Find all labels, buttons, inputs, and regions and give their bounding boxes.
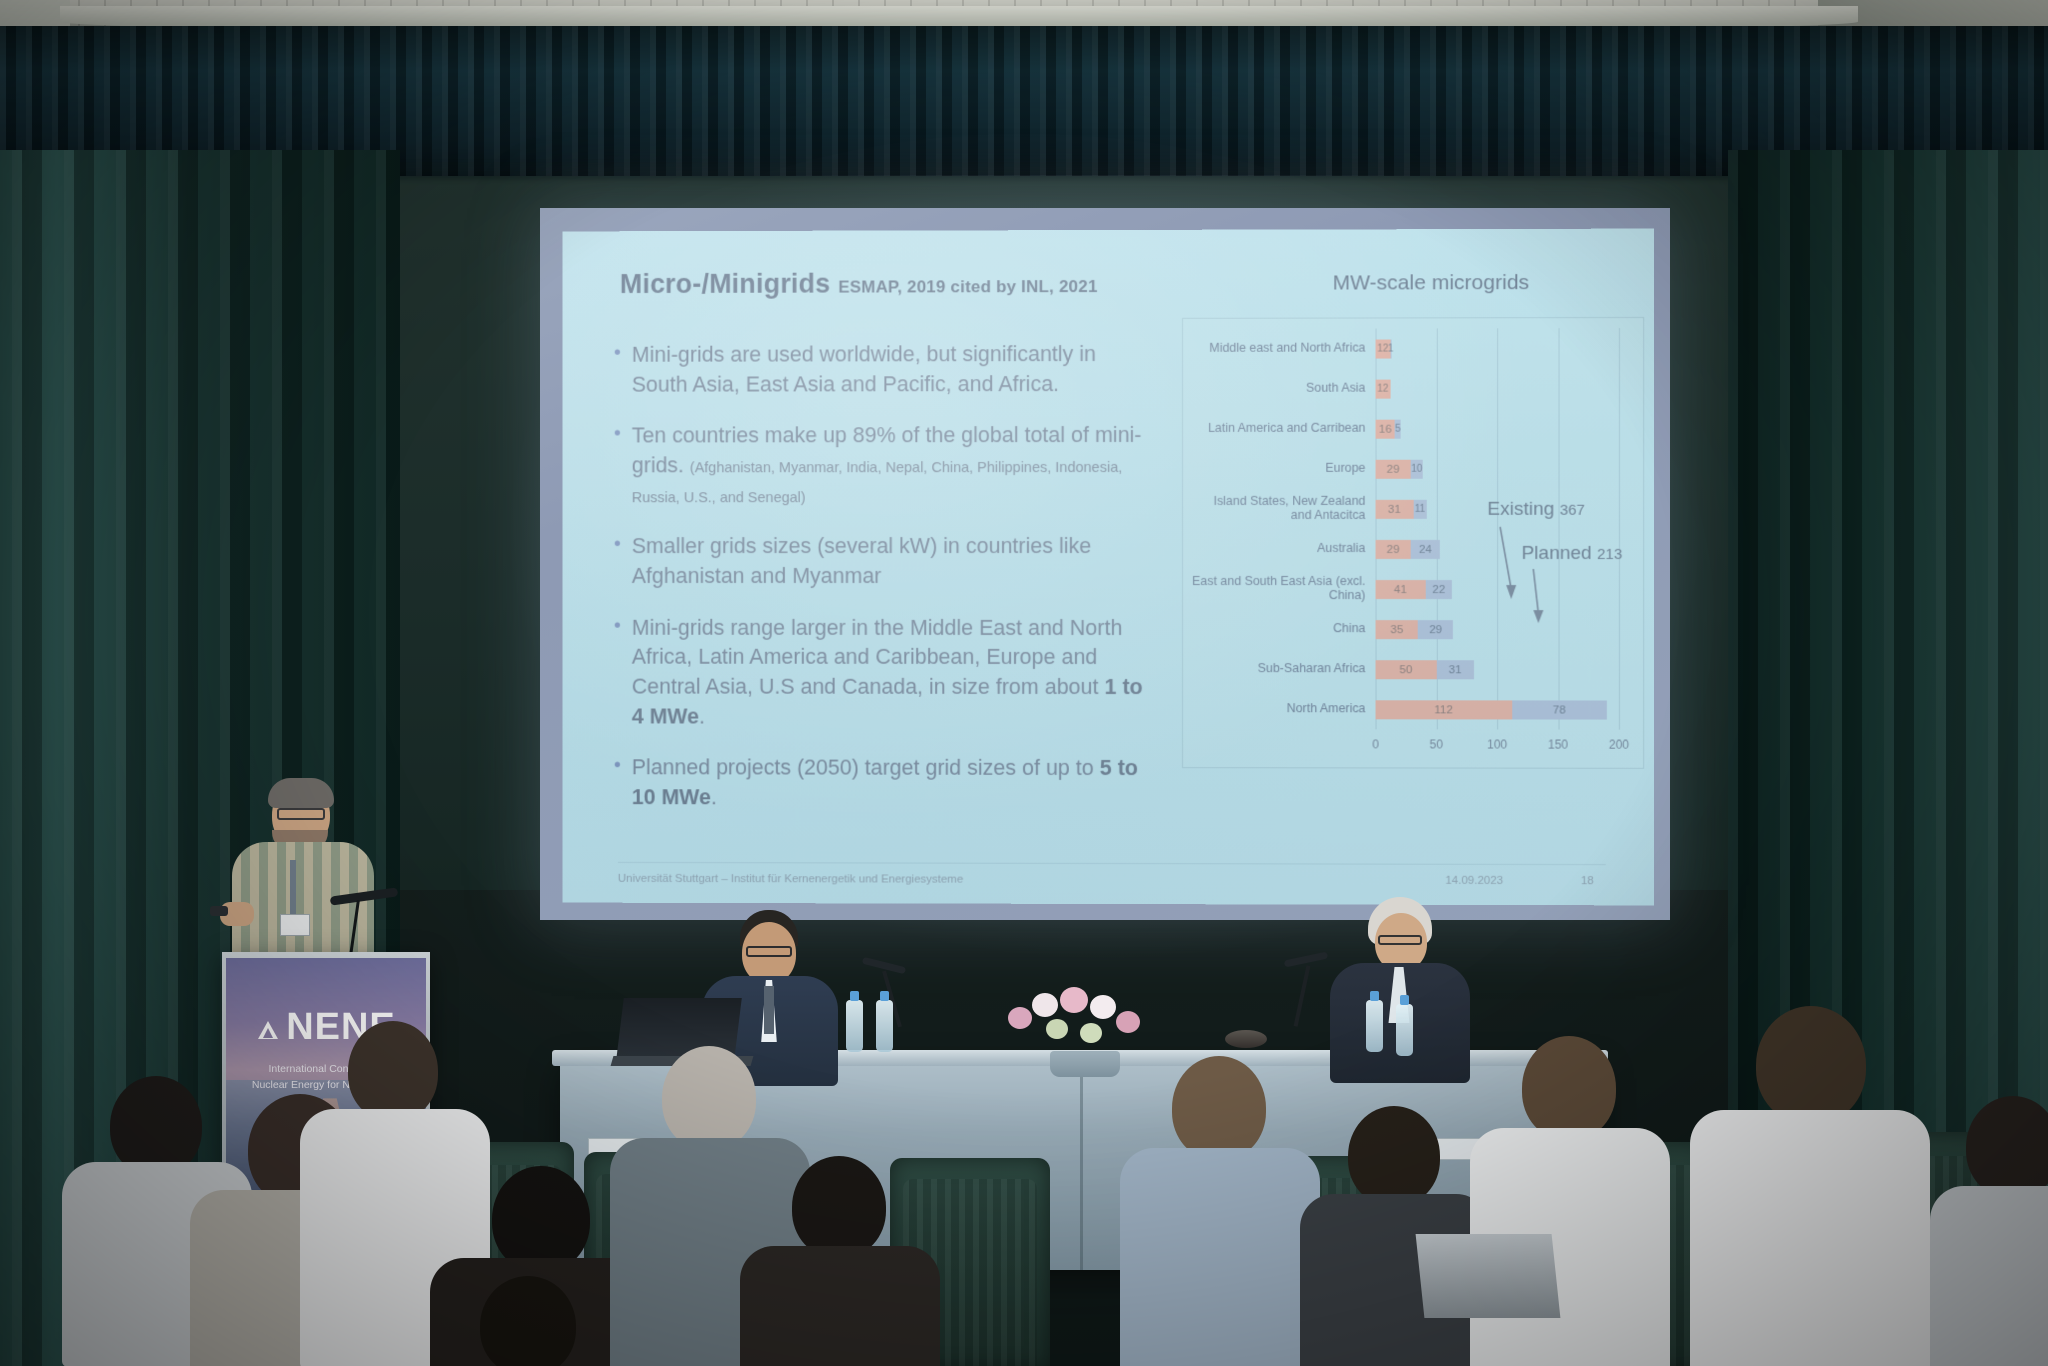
chart-category-label: Latin America and Carribean bbox=[1179, 422, 1365, 436]
chart-bar-row: Middle east and North Africa121 bbox=[1376, 339, 1619, 358]
footer-divider bbox=[618, 862, 1606, 865]
audience-torso bbox=[1930, 1186, 2048, 1366]
bullet-dot-icon: • bbox=[614, 613, 621, 731]
audience-head bbox=[480, 1276, 576, 1366]
chart-bar-segment-existing: 112 bbox=[1376, 700, 1512, 719]
chart-bar-segment-planned: 24 bbox=[1411, 539, 1440, 558]
bullet-item: • Mini-grids are used worldwide, but sig… bbox=[614, 340, 1152, 400]
chart-bar-segment-existing: 29 bbox=[1376, 539, 1411, 558]
chart-category-label: North America bbox=[1179, 702, 1365, 716]
chart-bar-segment-existing: 50 bbox=[1376, 660, 1437, 679]
audience-head bbox=[110, 1076, 202, 1176]
annotation-existing-value: 367 bbox=[1560, 502, 1585, 519]
annotation-planned-value: 213 bbox=[1597, 546, 1622, 563]
audience-torso bbox=[740, 1246, 940, 1366]
audience-member bbox=[740, 1156, 940, 1366]
slide-footer-institution: Universität Stuttgart – Institut für Ker… bbox=[618, 873, 963, 886]
chart-bar-segment-existing: 41 bbox=[1376, 580, 1426, 599]
chart-bar-row: North America11278 bbox=[1376, 700, 1619, 719]
chart-category-label: Europe bbox=[1179, 462, 1365, 476]
chart-bar-segment-existing: 29 bbox=[1376, 459, 1411, 478]
audience-torso bbox=[1120, 1148, 1320, 1366]
chart-bar-row: Sub-Saharan Africa5031 bbox=[1376, 660, 1619, 679]
audience-member bbox=[1690, 1006, 1930, 1366]
chart-bar-row: South Asia12 bbox=[1376, 379, 1619, 398]
panelist-right-glasses bbox=[1378, 935, 1422, 945]
chart-x-tick: 100 bbox=[1487, 737, 1507, 751]
speaker-badge bbox=[280, 914, 310, 936]
audience-laptop bbox=[1416, 1234, 1561, 1318]
chart-x-tick: 50 bbox=[1430, 737, 1443, 751]
chart-category-label: China bbox=[1179, 622, 1365, 636]
slide-footer-date: 14.09.2023 bbox=[1445, 875, 1503, 887]
slide-title: Micro-/MinigridsESMAP, 2019 cited by INL… bbox=[620, 268, 1098, 300]
speaker-lanyard bbox=[290, 860, 296, 918]
chart-bar-row: Latin America and Carribean165 bbox=[1376, 419, 1619, 438]
chart-x-axis: 050100150200 bbox=[1376, 737, 1619, 757]
chart-category-label: South Asia bbox=[1179, 382, 1365, 396]
bullet-text-main: Planned projects (2050) target grid size… bbox=[632, 756, 1100, 781]
chart-bar-segment-existing: 16 bbox=[1376, 419, 1395, 438]
arrow-existing-icon bbox=[1483, 525, 1523, 605]
audience-head bbox=[1348, 1106, 1440, 1206]
bullet-text: Mini-grids range larger in the Middle Ea… bbox=[632, 613, 1152, 732]
chart-bar-segment-planned: 11 bbox=[1413, 499, 1426, 518]
speaker-hair bbox=[268, 778, 334, 808]
chart-category-label: Middle east and North Africa bbox=[1179, 342, 1365, 356]
slide-title-main: Micro-/Minigrids bbox=[620, 269, 830, 299]
audience-head bbox=[1522, 1036, 1616, 1140]
annotation-planned: Planned 213 bbox=[1521, 543, 1622, 565]
presentation-slide: Micro-/MinigridsESMAP, 2019 cited by INL… bbox=[562, 229, 1654, 906]
speaker-glasses bbox=[277, 808, 325, 820]
audience-head bbox=[492, 1166, 590, 1272]
slide-title-source: ESMAP, 2019 cited by INL, 2021 bbox=[838, 277, 1097, 297]
conference-room-scene: Micro-/MinigridsESMAP, 2019 cited by INL… bbox=[0, 0, 2048, 1366]
chart-bar-segment-planned: 1 bbox=[1390, 339, 1391, 358]
chart-bar-row: China3529 bbox=[1376, 620, 1619, 639]
chart-bar-segment-existing: 12 bbox=[1376, 379, 1391, 398]
bullet-text: Planned projects (2050) target grid size… bbox=[632, 754, 1152, 814]
bullet-text: Ten countries make up 89% of the global … bbox=[632, 421, 1152, 510]
audience-area bbox=[0, 946, 2048, 1366]
projection-screen: Micro-/MinigridsESMAP, 2019 cited by INL… bbox=[540, 208, 1670, 920]
annotation-planned-label: Planned bbox=[1521, 543, 1591, 564]
bullet-dot-icon: • bbox=[614, 422, 621, 511]
speaker-clicker bbox=[210, 906, 228, 916]
chart-x-tick: 150 bbox=[1548, 738, 1568, 752]
arrow-planned-icon bbox=[1521, 567, 1551, 629]
chart-category-label: Island States, New Zealand and Antacitca bbox=[1179, 495, 1365, 523]
chart-plot-area: Middle east and North Africa121South Asi… bbox=[1376, 328, 1619, 730]
audience-torso bbox=[1690, 1110, 1930, 1366]
audience-member bbox=[1930, 1096, 2048, 1366]
audience-head bbox=[1172, 1056, 1266, 1160]
bullet-dot-icon: • bbox=[614, 341, 621, 400]
bullet-text-main: Mini-grids range larger in the Middle Ea… bbox=[632, 615, 1123, 698]
chart-bar-segment-planned: 29 bbox=[1418, 620, 1453, 639]
chart-x-tick: 0 bbox=[1372, 737, 1379, 751]
chart-bar-segment-existing: 31 bbox=[1376, 499, 1414, 518]
chart-x-tick: 200 bbox=[1609, 738, 1629, 752]
audience-head bbox=[662, 1046, 756, 1150]
annotation-existing-label: Existing bbox=[1487, 499, 1554, 520]
bullet-item: • Planned projects (2050) target grid si… bbox=[614, 754, 1152, 814]
audience-head bbox=[348, 1021, 438, 1121]
chart-title: MW-scale microgrids bbox=[1220, 271, 1642, 296]
bullet-item: • Smaller grids sizes (several kW) in co… bbox=[614, 532, 1152, 591]
audience-head bbox=[1756, 1006, 1866, 1124]
chart-bar-row: Europe2910 bbox=[1376, 459, 1619, 478]
bullet-dot-icon: • bbox=[614, 754, 621, 813]
audience-member bbox=[420, 1276, 630, 1366]
chart-bar-segment-existing: 35 bbox=[1376, 620, 1419, 639]
annotation-existing: Existing 367 bbox=[1487, 499, 1584, 521]
slide-bullet-list: • Mini-grids are used worldwide, but sig… bbox=[614, 340, 1152, 836]
audience-member bbox=[1120, 1056, 1320, 1366]
bullet-text: Smaller grids sizes (several kW) in coun… bbox=[632, 532, 1152, 591]
chart-bar-segment-planned: 10 bbox=[1411, 459, 1423, 478]
bullet-item: • Ten countries make up 89% of the globa… bbox=[614, 421, 1152, 510]
chart-category-label: Australia bbox=[1179, 542, 1365, 556]
speaker-presenter bbox=[236, 782, 366, 972]
audience-head bbox=[1966, 1096, 2048, 1198]
chart-container: Middle east and North Africa121South Asi… bbox=[1182, 317, 1644, 769]
chart-category-label: East and South East Asia (excl. China) bbox=[1179, 575, 1365, 603]
bullet-dot-icon: • bbox=[614, 532, 621, 591]
bullet-item: • Mini-grids range larger in the Middle … bbox=[614, 613, 1152, 732]
chart-bar-segment-planned: 5 bbox=[1395, 419, 1401, 438]
bullet-text: Mini-grids are used worldwide, but signi… bbox=[632, 340, 1152, 400]
chart-bar-segment-planned: 78 bbox=[1512, 700, 1607, 719]
bullet-subtext: (Afghanistan, Myanmar, India, Nepal, Chi… bbox=[632, 460, 1122, 506]
chart-category-label: Sub-Saharan Africa bbox=[1179, 662, 1365, 676]
bullet-text-after: . bbox=[711, 785, 717, 809]
bullet-text-after: . bbox=[699, 704, 705, 728]
chart-bar-segment-planned: 31 bbox=[1436, 660, 1474, 679]
audience-head bbox=[792, 1156, 886, 1258]
chart-gridline bbox=[1619, 328, 1620, 730]
slide-footer-page-number: 18 bbox=[1581, 875, 1594, 887]
chart-bar-segment-planned: 22 bbox=[1425, 580, 1452, 599]
